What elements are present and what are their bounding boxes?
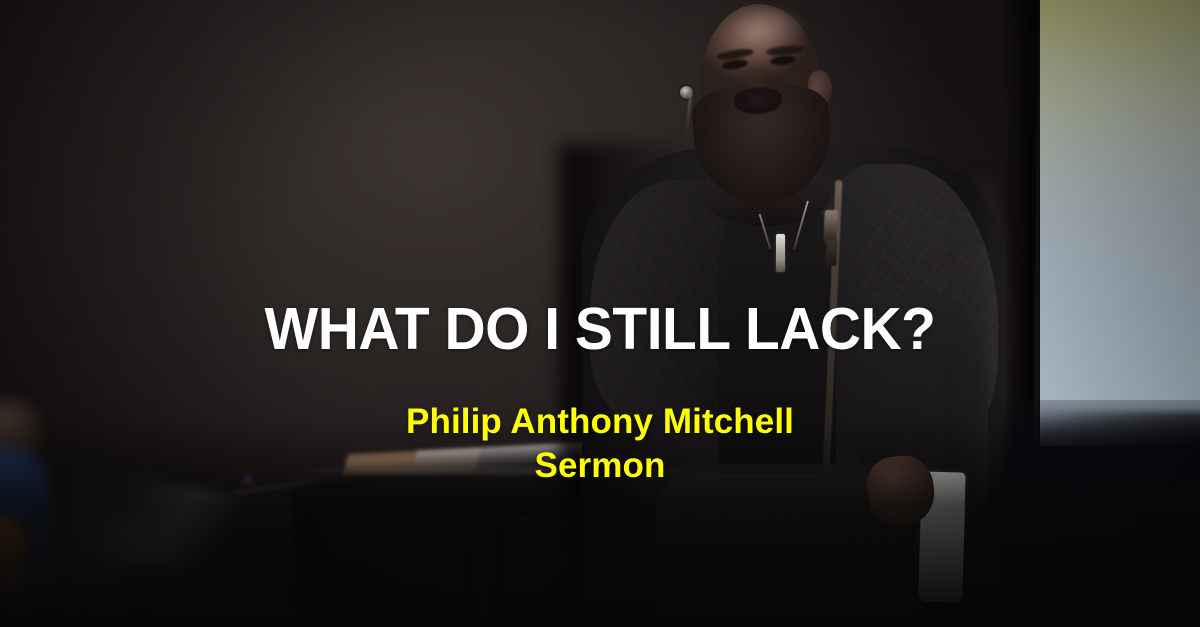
sermon-title: WHAT DO I STILL LACK?	[21, 300, 1179, 359]
content-type-label: Sermon	[0, 444, 1200, 488]
speaker-name: Philip Anthony Mitchell	[0, 400, 1200, 444]
video-thumbnail: WHAT DO I STILL LACK? Philip Anthony Mit…	[0, 0, 1200, 627]
sermon-subtitle: Philip Anthony Mitchell Sermon	[0, 400, 1200, 488]
